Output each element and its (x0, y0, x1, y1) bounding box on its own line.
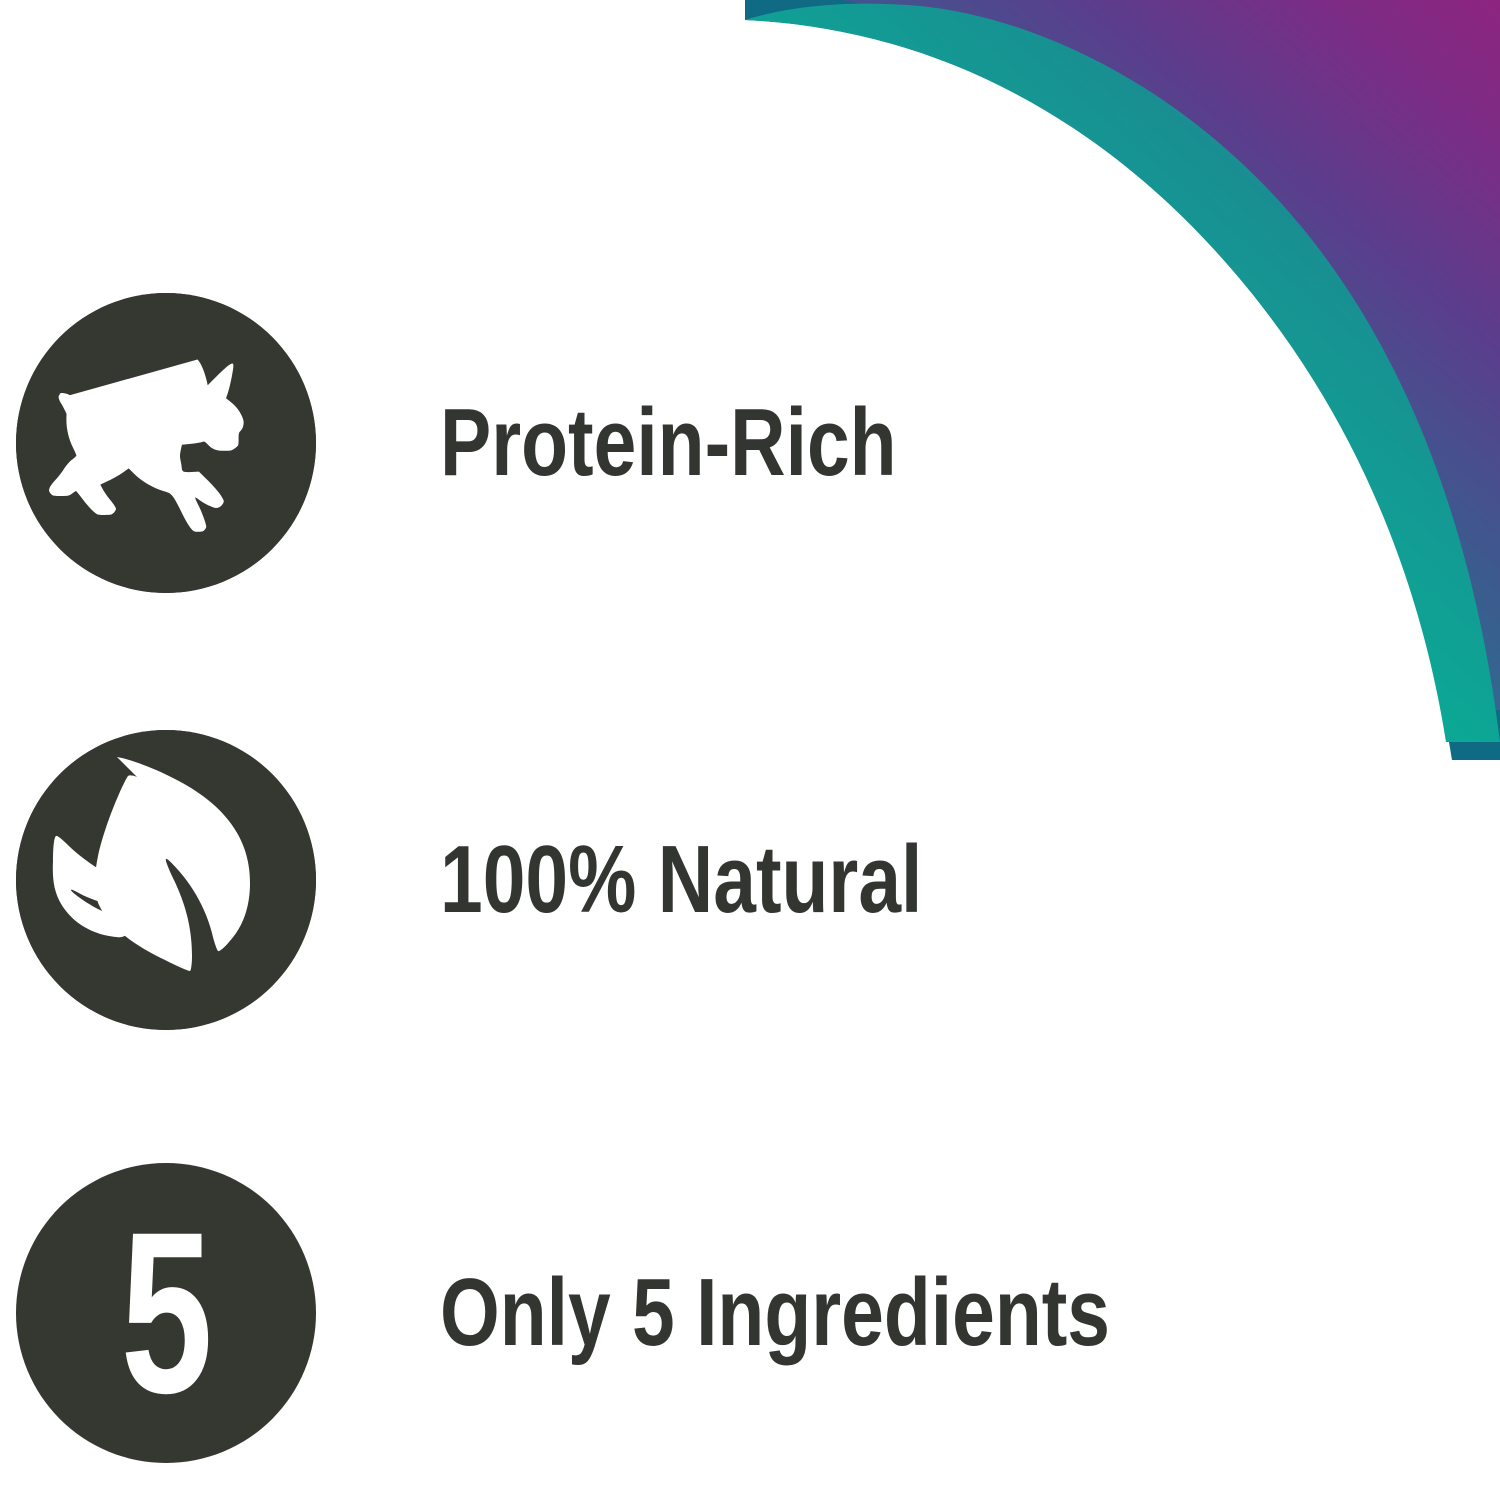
feature-badge (16, 730, 316, 1030)
product-feature-panel: Protein-Rich 100% Natural 5 Only 5 Ingre… (0, 0, 1500, 1500)
feature-row: Protein-Rich (0, 285, 1500, 601)
feature-badge (16, 293, 316, 593)
leaf-icon (16, 730, 316, 1030)
feature-label: 100% Natural (440, 832, 922, 928)
jumping-dog-icon (16, 293, 316, 593)
feature-label: Only 5 Ingredients (440, 1265, 1110, 1361)
feature-row: 5 Only 5 Ingredients (0, 1155, 1500, 1471)
feature-label: Protein-Rich (440, 395, 897, 491)
feature-badge: 5 (16, 1163, 316, 1463)
feature-row: 100% Natural (0, 722, 1500, 1038)
number-five-icon: 5 (121, 1198, 212, 1428)
